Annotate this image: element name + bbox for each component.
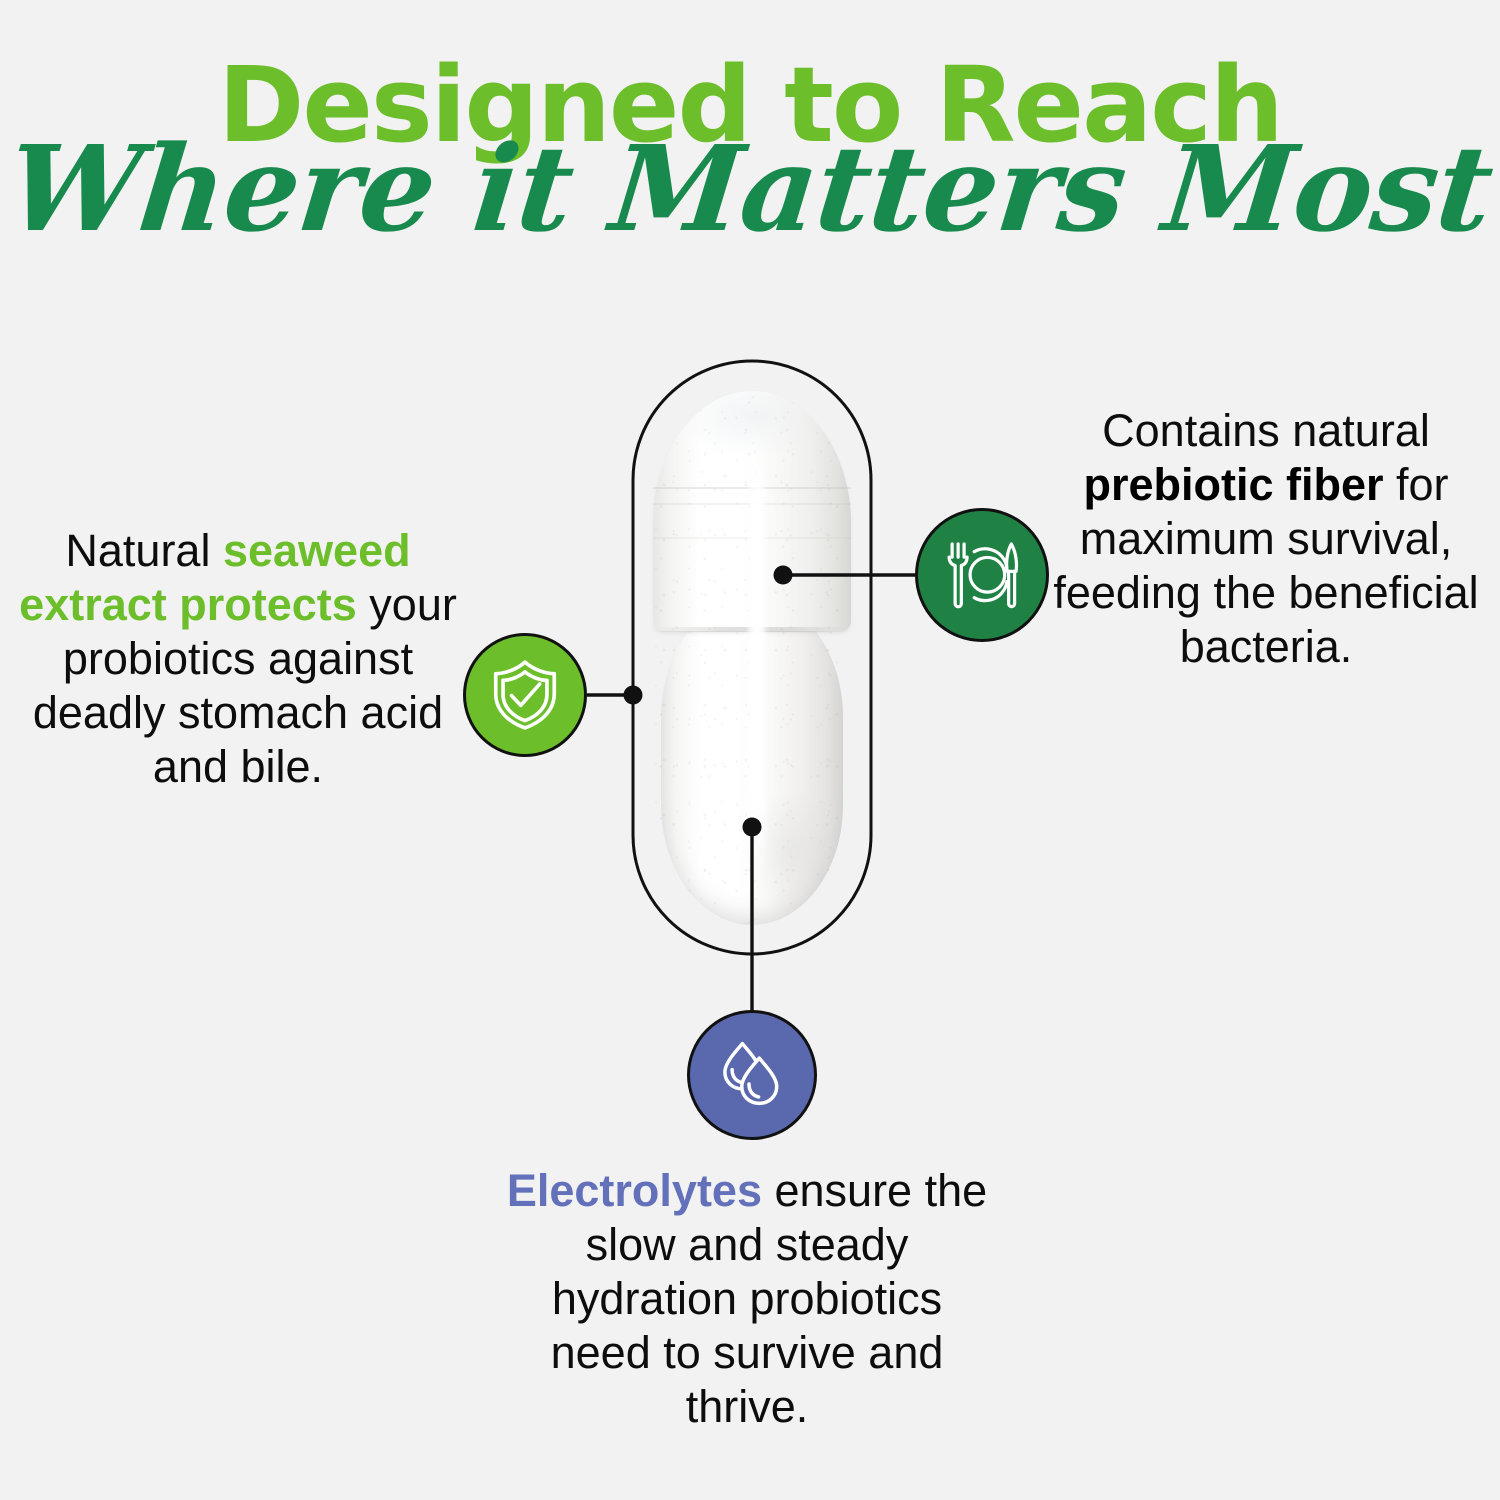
plate-fork-knife-icon bbox=[939, 532, 1025, 618]
callout-text-prebiotic: Contains natural prebiotic fiber for max… bbox=[1046, 404, 1486, 674]
callout-text-seaweed-run-0: Natural bbox=[65, 525, 223, 576]
water-droplets-icon bbox=[711, 1034, 793, 1116]
water-droplets-badge[interactable] bbox=[687, 1010, 817, 1140]
callout-text-prebiotic-highlight: prebiotic fiber bbox=[1083, 459, 1383, 510]
callout-text-electrolytes: Electrolytes ensure the slow and steady … bbox=[502, 1164, 992, 1434]
callout-text-seaweed: Natural seaweed extract protects your pr… bbox=[18, 524, 458, 794]
callout-text-prebiotic-run-0: Contains natural bbox=[1102, 405, 1430, 456]
plate-fork-knife-badge[interactable] bbox=[915, 508, 1049, 642]
shield-check-badge[interactable] bbox=[463, 633, 587, 757]
title-line-2-script: Where it Matters Most bbox=[0, 132, 1500, 245]
page-title: Designed to Reach Where it Matters Most bbox=[0, 52, 1500, 245]
infographic-canvas: Designed to Reach Where it Matters Most bbox=[0, 0, 1500, 1500]
callout-text-electrolytes-highlight: Electrolytes bbox=[507, 1165, 762, 1216]
connector-dot-seaweed bbox=[624, 686, 643, 705]
shield-check-icon bbox=[486, 656, 564, 734]
probiotic-capsule-image bbox=[653, 391, 851, 925]
capsule-highlight bbox=[749, 421, 765, 901]
